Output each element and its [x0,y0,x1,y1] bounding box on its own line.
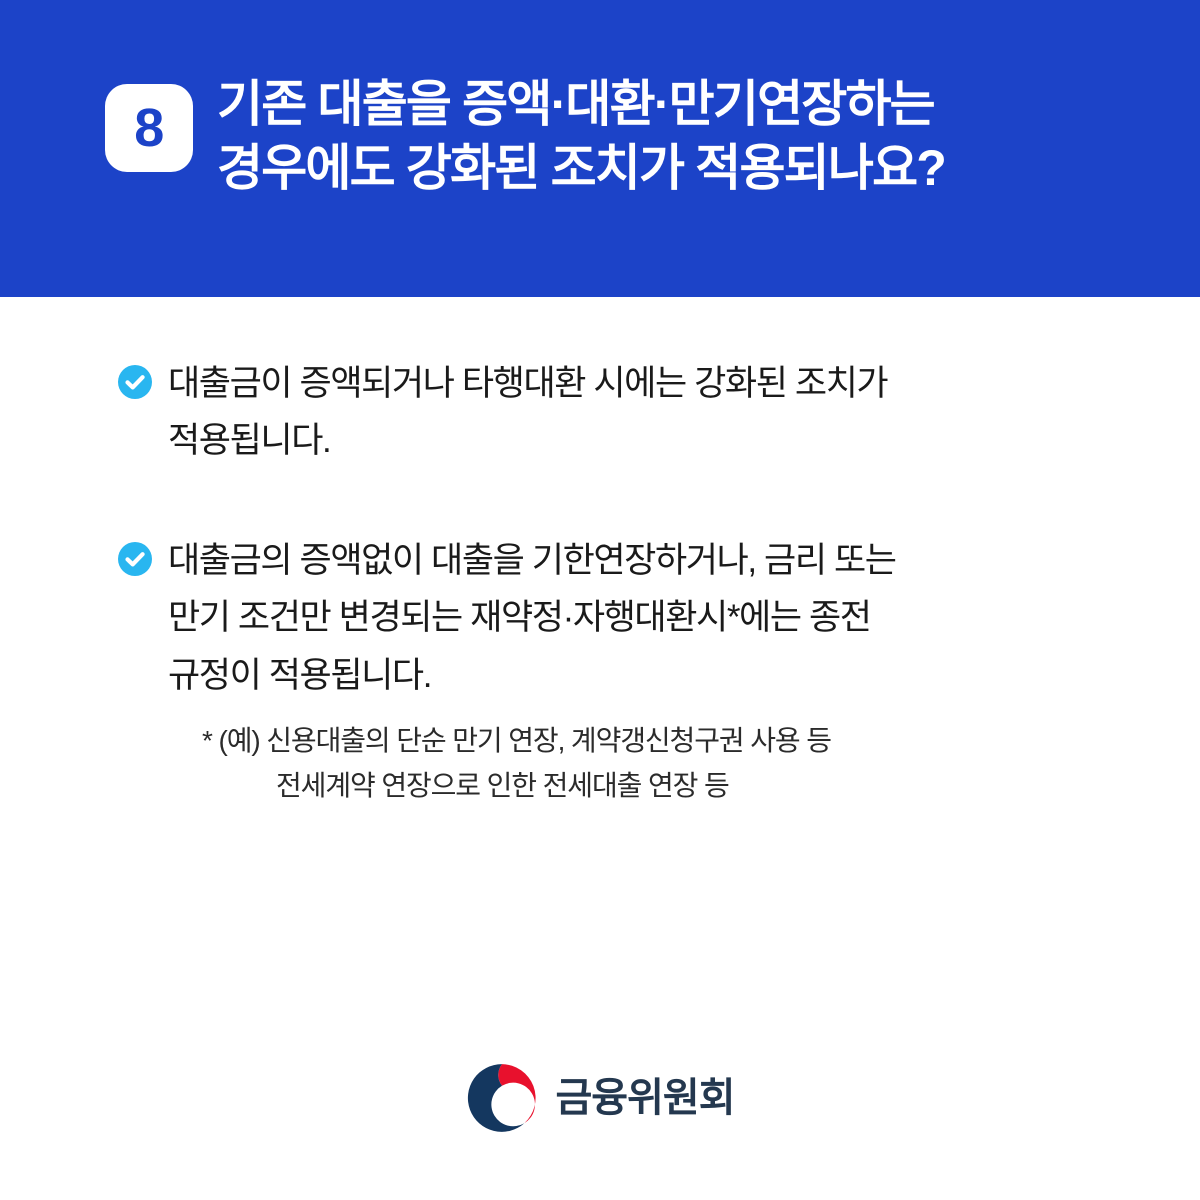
bullet-1-line-1: 대출금이 증액되거나 타행대환 시에는 강화된 조치가 [168,355,887,412]
title-line-2: 경우에도 강화된 조치가 적용되나요? [217,136,945,200]
question-number-badge: 8 [105,84,193,172]
taegeuk-logo-icon [466,1062,538,1134]
bullet-text-1: 대출금이 증액되거나 타행대환 시에는 강화된 조치가 적용됩니다. [168,355,887,470]
bullet-1-line-2: 적용됩니다. [168,412,887,469]
page-title: 기존 대출을 증액·대환·만기연장하는 경우에도 강화된 조치가 적용되나요? [217,72,945,200]
footnote-block: * (예) 신용대출의 단순 만기 연장, 계약갱신청구권 사용 등 전세계약 … [202,718,896,809]
check-circle-icon [118,365,152,399]
card-news-slide: 8 기존 대출을 증액·대환·만기연장하는 경우에도 강화된 조치가 적용되나요… [0,0,1200,1200]
content-area: 대출금이 증액되거나 타행대환 시에는 강화된 조치가 적용됩니다. 대출금의 … [0,297,1200,1030]
footnote-line-2: 전세계약 연장으로 인한 전세대출 연장 등 [202,763,896,808]
bullet-item-1: 대출금이 증액되거나 타행대환 시에는 강화된 조치가 적용됩니다. [118,355,1140,470]
bullet-2-line-3: 규정이 적용됩니다. [168,647,896,704]
check-circle-icon [118,542,152,576]
organization-name: 금융위원회 [556,1078,735,1118]
footer-logo-area: 금융위원회 [0,1030,1200,1200]
bullet-2-line-2: 만기 조건만 변경되는 재약정·자행대환시*에는 종전 [168,589,896,646]
footnote-line-1: * (예) 신용대출의 단순 만기 연장, 계약갱신청구권 사용 등 [202,718,896,763]
title-line-1: 기존 대출을 증액·대환·만기연장하는 [217,72,945,136]
header-banner: 8 기존 대출을 증액·대환·만기연장하는 경우에도 강화된 조치가 적용되나요… [0,0,1200,297]
bullet-item-2: 대출금의 증액없이 대출을 기한연장하거나, 금리 또는 만기 조건만 변경되는… [118,532,1140,809]
question-number-text: 8 [134,101,164,155]
bullet-2-line-1: 대출금의 증액없이 대출을 기한연장하거나, 금리 또는 [168,532,896,589]
bullet-text-2: 대출금의 증액없이 대출을 기한연장하거나, 금리 또는 만기 조건만 변경되는… [168,532,896,704]
